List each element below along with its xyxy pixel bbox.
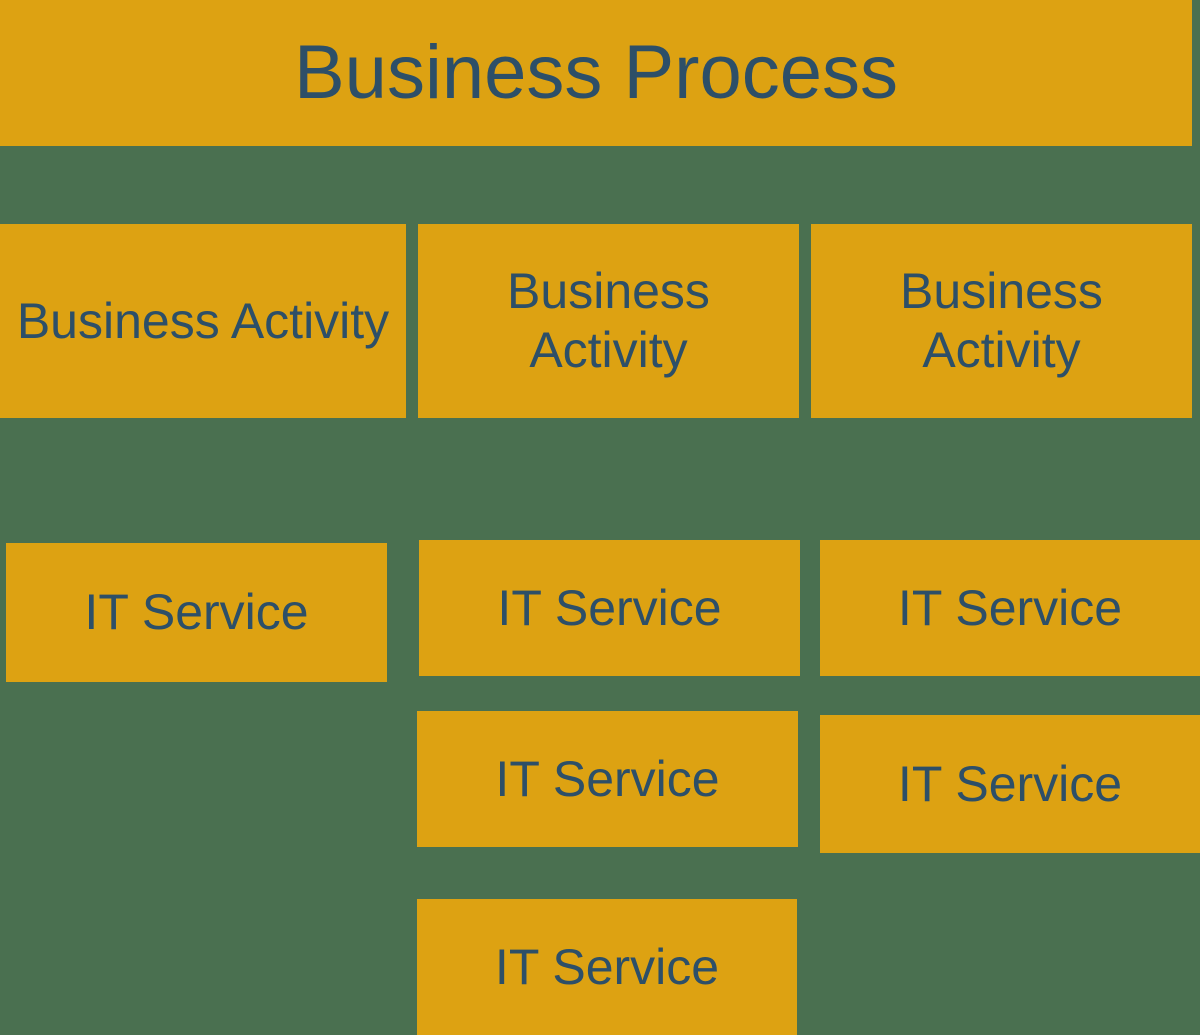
it-service-node-2[interactable]: IT Service — [419, 540, 800, 676]
business-process-node[interactable]: Business Process — [0, 0, 1192, 146]
business-activity-label-2: Business Activity — [418, 262, 799, 380]
diagram-canvas: Business Process Business Activity Busin… — [0, 0, 1200, 1035]
it-service-label-5: IT Service — [820, 755, 1200, 814]
it-service-label-2: IT Service — [419, 579, 800, 638]
business-activity-node-1[interactable]: Business Activity — [0, 224, 406, 418]
it-service-label-4: IT Service — [417, 750, 798, 809]
it-service-node-3[interactable]: IT Service — [820, 540, 1200, 676]
it-service-label-1: IT Service — [6, 583, 387, 642]
business-activity-node-3[interactable]: Business Activity — [811, 224, 1192, 418]
it-service-node-1[interactable]: IT Service — [6, 543, 387, 682]
it-service-label-3: IT Service — [820, 579, 1200, 638]
business-process-label: Business Process — [0, 28, 1192, 118]
it-service-node-4[interactable]: IT Service — [417, 711, 798, 847]
it-service-node-5[interactable]: IT Service — [820, 715, 1200, 853]
it-service-label-6: IT Service — [417, 938, 797, 997]
business-activity-label-1: Business Activity — [0, 292, 406, 351]
it-service-node-6[interactable]: IT Service — [417, 899, 797, 1035]
business-activity-node-2[interactable]: Business Activity — [418, 224, 799, 418]
business-activity-label-3: Business Activity — [811, 262, 1192, 380]
